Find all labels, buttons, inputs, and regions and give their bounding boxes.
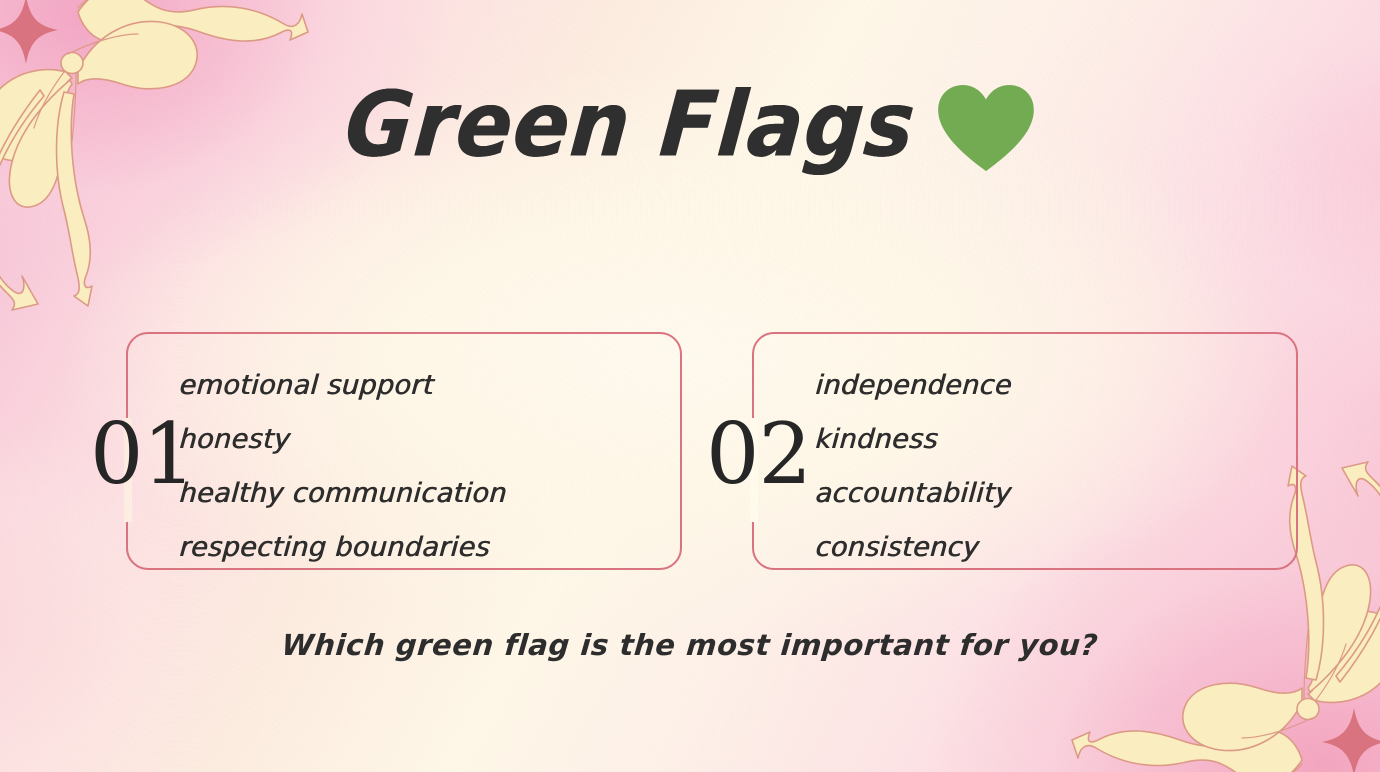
sparkle-star-icon (1322, 708, 1380, 772)
slide-canvas: Green Flags 01 emotional support honesty… (0, 0, 1380, 772)
list-item: emotional support (178, 358, 509, 412)
heart-icon-glyph (938, 85, 1034, 173)
card-number-02: 02 (706, 412, 811, 496)
green-flags-card-group: 01 emotional support honesty healthy com… (0, 332, 1380, 570)
sparkle-star-icon (0, 0, 58, 64)
list-item: healthy communication (178, 466, 509, 520)
list-item: accountability (814, 466, 1014, 520)
list-item: independence (814, 358, 1014, 412)
heart-icon (938, 84, 1034, 174)
list-item: consistency (814, 520, 1014, 574)
card-item-list-01: emotional support honesty healthy commun… (180, 358, 507, 574)
green-flags-card-02: 02 independence kindness accountability … (752, 332, 1298, 570)
green-flags-card-01: 01 emotional support honesty healthy com… (126, 332, 682, 570)
slide-header: Green Flags (0, 78, 1380, 174)
list-item: respecting boundaries (178, 520, 509, 574)
slide-caption: Which green flag is the most important f… (0, 628, 1380, 662)
card-item-list-02: independence kindness accountability con… (816, 358, 1012, 574)
list-item: kindness (814, 412, 1014, 466)
page-title: Green Flags (342, 80, 919, 172)
list-item: honesty (178, 412, 509, 466)
